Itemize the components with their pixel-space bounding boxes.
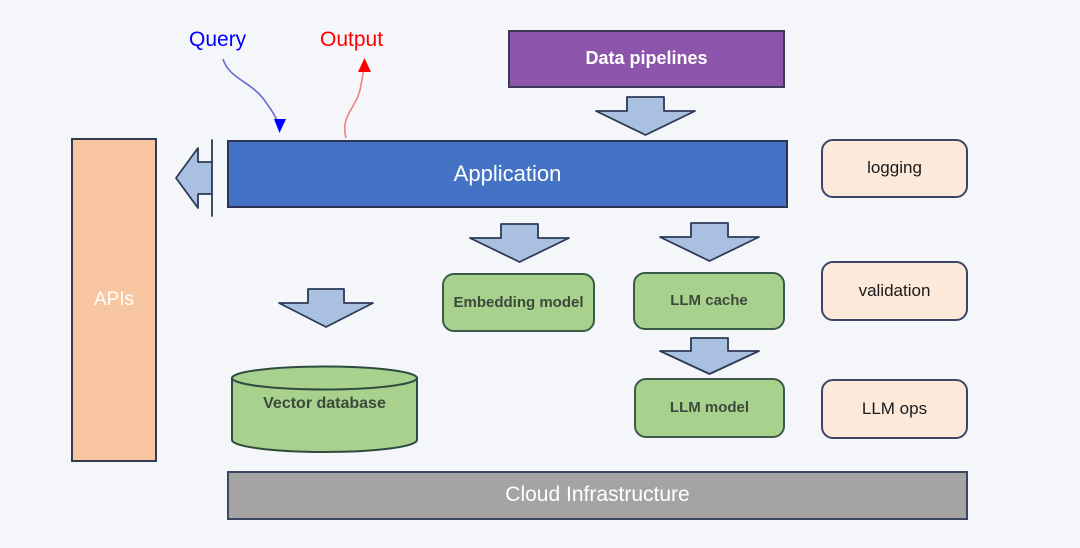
output-callout-label: Output: [320, 28, 383, 52]
llm-cache-label: LLM cache: [670, 292, 748, 310]
apis-label: APIs: [94, 289, 134, 311]
query-curve-arrow-icon: [215, 55, 325, 137]
cloud-infrastructure-label: Cloud Infrastructure: [505, 483, 689, 508]
application-box[interactable]: Application: [227, 140, 788, 208]
cloud-infrastructure-box[interactable]: Cloud Infrastructure: [227, 471, 968, 520]
logging-label: logging: [867, 158, 922, 178]
down-arrow-icon: [658, 336, 761, 376]
down-arrow-icon: [594, 95, 697, 137]
down-arrow-icon: [658, 221, 761, 263]
data-pipelines-box[interactable]: Data pipelines: [508, 30, 785, 88]
validation-box[interactable]: validation: [821, 261, 968, 321]
down-arrow-icon: [468, 222, 571, 264]
vector-database-cylinder[interactable]: Vector database: [230, 365, 419, 453]
llm-ops-label: LLM ops: [862, 399, 927, 419]
llm-model-label: LLM model: [670, 399, 749, 417]
output-curve-arrow-icon: [330, 50, 400, 140]
left-arrow-icon: [174, 136, 214, 220]
architecture-diagram: Query Output Data pipelines APIs Applica…: [0, 0, 1080, 548]
down-arrow-icon: [277, 287, 375, 329]
validation-label: validation: [859, 281, 931, 301]
logging-box[interactable]: logging: [821, 139, 968, 198]
apis-box[interactable]: APIs: [71, 138, 157, 462]
data-pipelines-label: Data pipelines: [585, 48, 707, 69]
embedding-model-box[interactable]: Embedding model: [442, 273, 595, 332]
application-label: Application: [454, 161, 562, 187]
llm-model-box[interactable]: LLM model: [634, 378, 785, 438]
query-callout-label: Query: [189, 28, 246, 52]
embedding-model-label: Embedding model: [453, 294, 583, 312]
llm-ops-box[interactable]: LLM ops: [821, 379, 968, 439]
llm-cache-box[interactable]: LLM cache: [633, 272, 785, 330]
